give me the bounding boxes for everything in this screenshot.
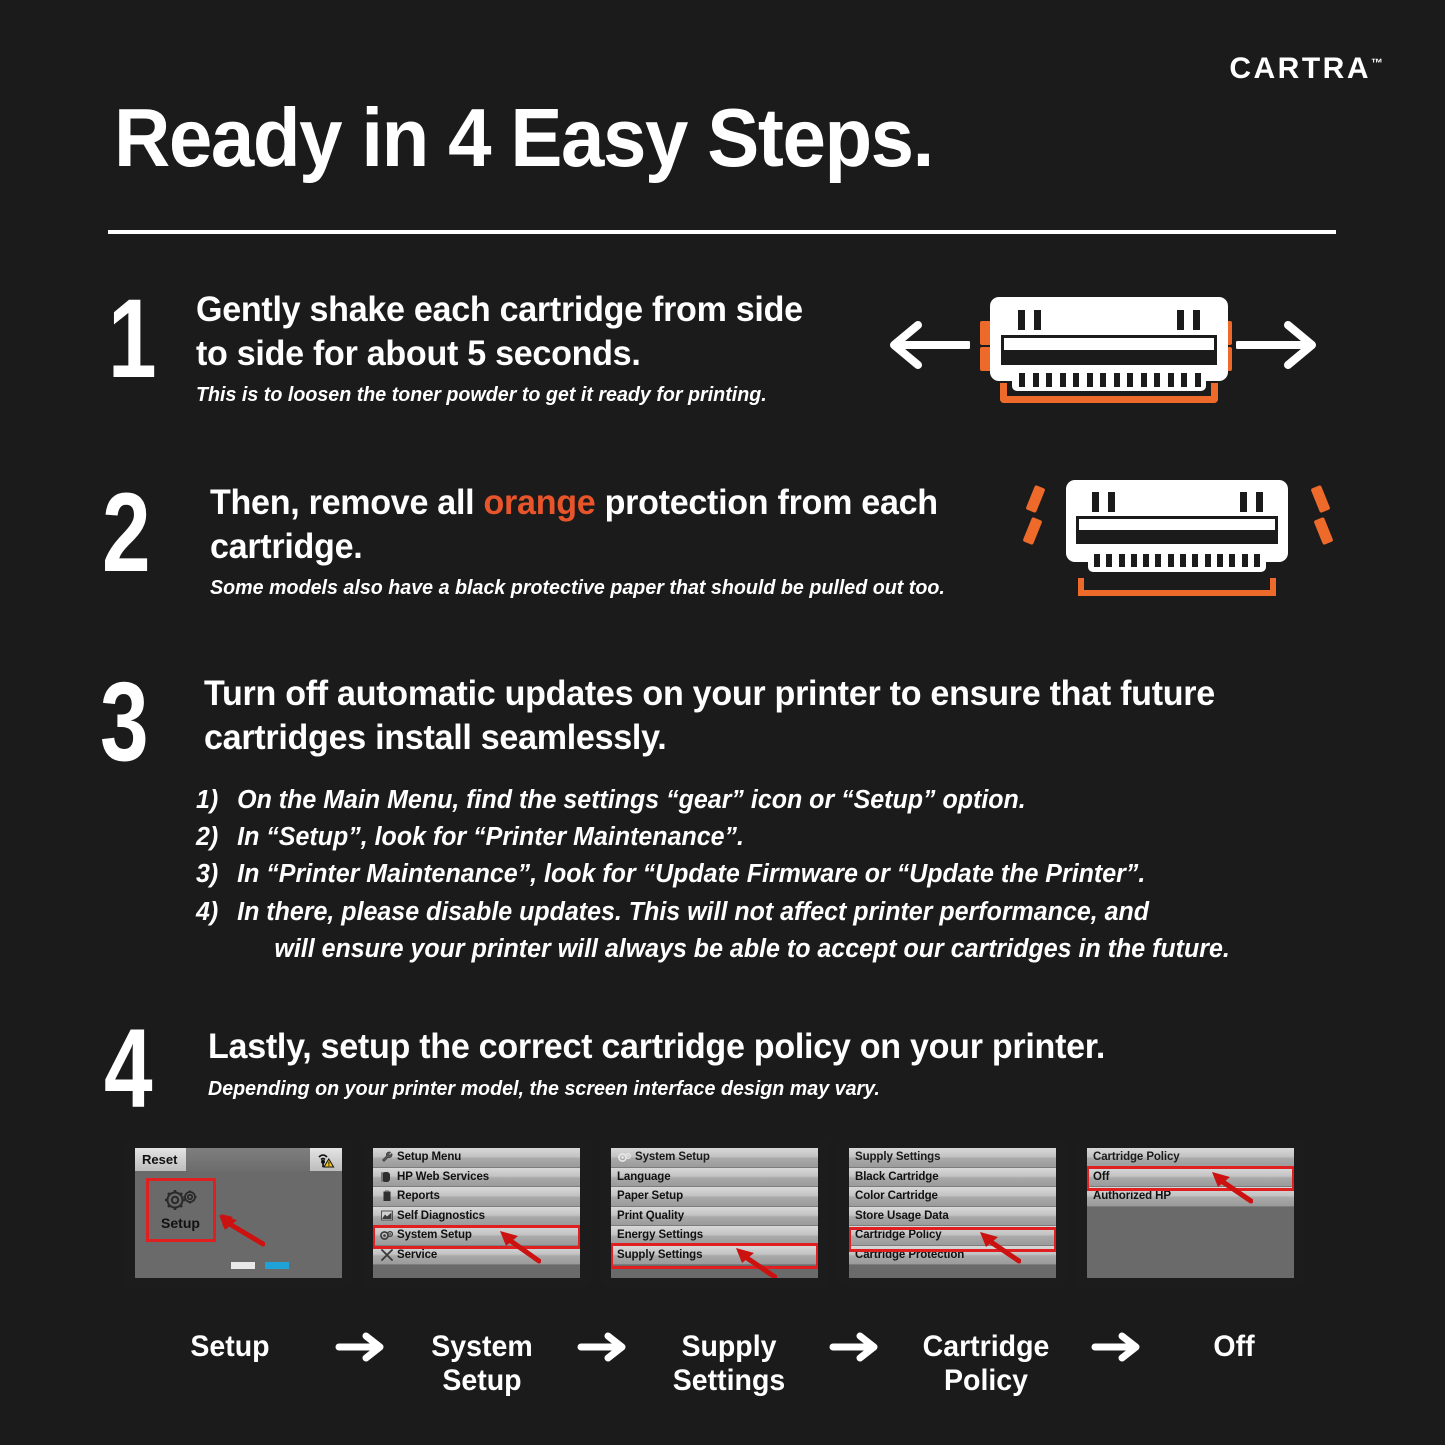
menu-label: Store Usage Data: [855, 1210, 1056, 1222]
menu-label: Supply Settings: [617, 1249, 818, 1261]
menu-label: Reports: [397, 1190, 580, 1202]
menu-item-off[interactable]: Off: [1087, 1168, 1294, 1188]
menu-item-authorized-hp[interactable]: Authorized HP: [1087, 1187, 1294, 1207]
menu-label: Authorized HP: [1093, 1190, 1294, 1202]
sublist-text: On the Main Menu, find the settings “gea…: [237, 786, 1026, 814]
sublist-item: 1) On the Main Menu, find the settings “…: [196, 782, 1352, 819]
setup-tile[interactable]: Setup: [149, 1181, 212, 1237]
menu-label: Print Quality: [617, 1210, 818, 1222]
sublist-marker: 3): [196, 856, 237, 893]
step-2-heading-highlight: orange: [484, 482, 596, 522]
panel-supply-settings[interactable]: Supply Settings Black Cartridge Color Ca…: [838, 1139, 1067, 1287]
cartridge-slot-3: [1177, 310, 1184, 330]
printer-screen[interactable]: System Setup Language Paper Setup Print …: [611, 1148, 818, 1278]
flow-label-system-setup: System Setup: [397, 1296, 568, 1398]
tools-icon: [379, 1249, 394, 1261]
page-title: Ready in 4 Easy Steps.: [114, 96, 933, 179]
brand-name: CARTRA: [1229, 52, 1371, 85]
printer-screen[interactable]: Supply Settings Black Cartridge Color Ca…: [849, 1148, 1056, 1278]
menu-item-setup-menu[interactable]: Setup Menu: [373, 1148, 580, 1168]
cartridge-slot-1: [1092, 492, 1099, 512]
flow-text: Off: [1213, 1330, 1254, 1363]
flow-label-off: Off: [1152, 1330, 1315, 1364]
cartridge-teeth: [1094, 554, 1260, 567]
menu-item-color-cartridge[interactable]: Color Cartridge: [849, 1187, 1056, 1207]
menu-item-cartridge-policy[interactable]: Cartridge Policy: [849, 1226, 1056, 1246]
menu-header-supply-settings: Supply Settings: [849, 1148, 1056, 1168]
sublist-item: 2) In “Setup”, look for “Printer Mainten…: [196, 819, 1352, 856]
infographic-page: CARTRA™ Ready in 4 Easy Steps. 1 Gently …: [0, 0, 1445, 1445]
arrow-right-icon: [1086, 1332, 1148, 1362]
panel-home[interactable]: Reset: [124, 1139, 353, 1287]
title-divider: [108, 230, 1336, 234]
step-4-number: 4: [104, 1013, 153, 1125]
menu-label: System Setup: [635, 1151, 818, 1163]
sublist-item: 3) In “Printer Maintenance”, look for “U…: [196, 856, 1352, 893]
arrow-left-icon: [888, 321, 970, 369]
wireless-warning-icon[interactable]: [310, 1148, 342, 1171]
step-1-number: 1: [108, 283, 157, 395]
menu-label: Language: [617, 1171, 818, 1183]
pointer-arrow-setup: [217, 1212, 265, 1248]
printer-screen[interactable]: Cartridge Policy Off Authorized HP: [1087, 1148, 1294, 1278]
printer-screen[interactable]: Reset: [135, 1148, 342, 1278]
step-3-heading: Turn off automatic updates on your print…: [204, 672, 1222, 759]
menu-label: Cartridge Policy: [855, 1229, 1056, 1241]
panel-cartridge-policy[interactable]: Cartridge Policy Off Authorized HP: [1076, 1139, 1305, 1287]
menu-label: Setup Menu: [397, 1151, 580, 1163]
menu-header-cartridge-policy: Cartridge Policy: [1087, 1148, 1294, 1168]
wrench-icon: [379, 1151, 394, 1163]
menu-label: Supply Settings: [855, 1151, 1056, 1163]
menu-label: Black Cartridge: [855, 1171, 1056, 1183]
flow-text: Cartridge Policy: [923, 1330, 1050, 1397]
flow-text: Setup: [190, 1330, 269, 1363]
menu-item-self-diagnostics[interactable]: Self Diagnostics: [373, 1207, 580, 1227]
menu-item-supply-settings[interactable]: Supply Settings: [611, 1246, 818, 1266]
detached-tab-left-bottom: [1023, 517, 1043, 545]
arrow-right-icon: [1236, 321, 1318, 369]
sublist-marker: 1): [196, 782, 237, 819]
topbar-filler: [186, 1148, 310, 1171]
printer-screen[interactable]: Setup Menu HP Web Services Reports: [373, 1148, 580, 1278]
gear-icon: [161, 1188, 201, 1214]
menu-label: Cartridge Protection: [855, 1249, 1056, 1261]
brand-logo: CARTRA™: [1229, 52, 1383, 86]
sublist-marker: 4): [196, 894, 237, 968]
step-4-heading: Lastly, setup the correct cartridge poli…: [208, 1025, 1245, 1069]
sublist-text: In there, please disable updates. This w…: [237, 898, 1149, 926]
navigation-flow: Setup System Setup Supply Settings Cartr…: [130, 1292, 1320, 1402]
sublist-text-continuation: will ensure your printer will always be …: [237, 931, 1352, 968]
menu-label: Off: [1093, 1171, 1294, 1183]
menu-item-language[interactable]: Language: [611, 1168, 818, 1188]
gear-icon: [379, 1230, 394, 1241]
menu-label: Color Cartridge: [855, 1190, 1056, 1202]
trademark-symbol: ™: [1371, 56, 1383, 70]
arrow-right-icon: [330, 1332, 392, 1362]
home-topbar: Reset: [135, 1148, 342, 1171]
cartridge-slot-4: [1256, 492, 1263, 512]
menu-item-reports[interactable]: Reports: [373, 1187, 580, 1207]
cartridge-slot-2: [1108, 492, 1115, 512]
sublist-text: In “Printer Maintenance”, look for “Upda…: [237, 860, 1145, 888]
menu-item-service[interactable]: Service: [373, 1246, 580, 1266]
reset-label: Reset: [142, 1152, 177, 1167]
menu-label: Paper Setup: [617, 1190, 818, 1202]
detached-tab-right-top: [1311, 485, 1331, 513]
sublist-item: 4) In there, please disable updates. Thi…: [196, 894, 1352, 968]
flow-label-cartridge-policy: Cartridge Policy: [891, 1296, 1081, 1398]
cartridge-drum-dark: [1079, 530, 1275, 541]
step-3-sublist: 1) On the Main Menu, find the settings “…: [196, 782, 1352, 968]
globe-icon: [379, 1171, 394, 1183]
cartridge-slot-1: [1018, 310, 1025, 330]
sublist-text: In “Setup”, look for “Printer Maintenanc…: [237, 823, 744, 851]
reset-button[interactable]: Reset: [135, 1148, 186, 1171]
gear-icon: [617, 1152, 632, 1163]
pointer-arrow-off: [1211, 1170, 1253, 1204]
step-2-subtext: Some models also have a black protective…: [210, 575, 968, 601]
step-1-subtext: This is to loosen the toner powder to ge…: [196, 382, 830, 408]
cartridge-slot-4: [1193, 310, 1200, 330]
cartridge-drum-dark: [1004, 350, 1214, 362]
cartridge-slot-2: [1034, 310, 1041, 330]
step-2-heading: Then, remove all orange protection from …: [210, 481, 968, 568]
panel-system-setup[interactable]: System Setup Language Paper Setup Print …: [600, 1139, 829, 1287]
printer-screen-panels: Reset: [124, 1139, 1326, 1287]
panel-setup-menu[interactable]: Setup Menu HP Web Services Reports: [362, 1139, 591, 1287]
sublist-marker: 2): [196, 819, 237, 856]
step-3-number: 3: [100, 666, 149, 778]
step-2-number: 2: [102, 477, 151, 589]
arrow-right-icon: [572, 1332, 634, 1362]
cartridge-teeth: [1019, 373, 1201, 387]
menu-label: Self Diagnostics: [397, 1210, 580, 1222]
page-indicator-inactive: [231, 1262, 255, 1269]
step-1-heading: Gently shake each cartridge from side to…: [196, 288, 830, 375]
menu-item-system-setup[interactable]: System Setup: [373, 1226, 580, 1246]
menu-item-store-usage-data[interactable]: Store Usage Data: [849, 1207, 1056, 1227]
step-2-heading-before: Then, remove all: [210, 482, 484, 522]
step-4-subtext: Depending on your printer model, the scr…: [208, 1076, 1245, 1102]
cartridge-shake-illustration: [888, 283, 1318, 407]
detached-tab-left-top: [1026, 485, 1046, 513]
flow-label-supply-settings: Supply Settings: [639, 1296, 820, 1398]
menu-item-print-quality[interactable]: Print Quality: [611, 1207, 818, 1227]
pointer-arrow-cartridge-policy: [979, 1230, 1021, 1264]
setup-label: Setup: [161, 1215, 200, 1231]
flow-label-setup: Setup: [135, 1330, 325, 1364]
cartridge-remove-tabs-illustration: [1018, 470, 1338, 600]
flow-text: Supply Settings: [673, 1330, 785, 1397]
menu-label: Cartridge Policy: [1093, 1151, 1294, 1163]
page-indicator-active: [265, 1262, 289, 1269]
menu-item-paper-setup[interactable]: Paper Setup: [611, 1187, 818, 1207]
cartridge-slot-3: [1240, 492, 1247, 512]
menu-label: Service: [397, 1249, 580, 1261]
detached-tab-right-bottom: [1314, 517, 1334, 545]
menu-item-black-cartridge[interactable]: Black Cartridge: [849, 1168, 1056, 1188]
arrow-right-icon: [824, 1332, 886, 1362]
menu-label: HP Web Services: [397, 1171, 580, 1183]
chart-icon: [379, 1210, 394, 1221]
detached-bottom-strip: [1078, 578, 1276, 596]
pointer-arrow-supply-settings: [735, 1246, 777, 1278]
flow-text: System Setup: [431, 1330, 532, 1397]
menu-header-system-setup: System Setup: [611, 1148, 818, 1168]
document-icon: [379, 1190, 394, 1202]
menu-label: Energy Settings: [617, 1229, 818, 1241]
menu-item-cartridge-protection[interactable]: Cartridge Protection: [849, 1246, 1056, 1266]
menu-item-hp-web-services[interactable]: HP Web Services: [373, 1168, 580, 1188]
menu-item-energy-settings[interactable]: Energy Settings: [611, 1226, 818, 1246]
menu-label: System Setup: [397, 1229, 580, 1241]
pointer-arrow-system-setup: [499, 1228, 541, 1264]
